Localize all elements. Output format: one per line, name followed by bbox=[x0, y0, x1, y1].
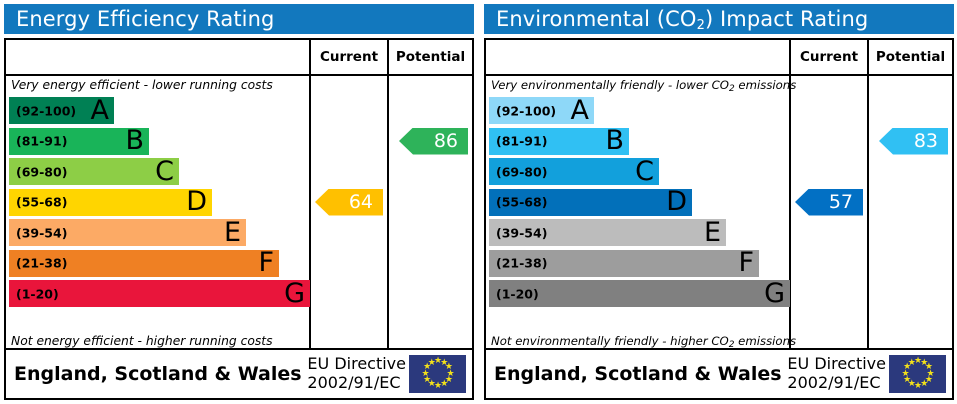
chart-title-environmental-impact: Environmental (CO2) Impact Rating bbox=[484, 4, 954, 34]
band-letter-G: G bbox=[284, 279, 305, 306]
band-range-F: (21-38) bbox=[496, 256, 547, 271]
band-range-B: (81-91) bbox=[496, 134, 547, 149]
band-letter-E: E bbox=[704, 218, 721, 245]
footer-region-label: England, Scotland & Wales bbox=[494, 350, 782, 398]
column-header-current: Current bbox=[311, 40, 389, 74]
header-blank-cell bbox=[6, 40, 311, 74]
chart-footer: England, Scotland & WalesEU Directive200… bbox=[486, 348, 952, 398]
current-rating-value: 64 bbox=[349, 191, 373, 213]
band-C: (69-80)C bbox=[9, 158, 179, 185]
band-range-F: (21-38) bbox=[16, 256, 67, 271]
band-range-C: (69-80) bbox=[16, 164, 67, 179]
band-letter-B: B bbox=[605, 127, 624, 154]
band-letter-F: F bbox=[258, 249, 274, 276]
band-B: (81-91)B bbox=[489, 128, 629, 155]
band-G: (1-20)G bbox=[9, 280, 310, 307]
band-range-D: (55-68) bbox=[496, 195, 547, 210]
band-range-E: (39-54) bbox=[496, 225, 547, 240]
band-E: (39-54)E bbox=[489, 219, 726, 246]
chart-frame-environmental-impact: CurrentPotentialVery environmentally fri… bbox=[484, 38, 954, 400]
band-E: (39-54)E bbox=[9, 219, 246, 246]
band-letter-B: B bbox=[125, 127, 144, 154]
table-header-row: CurrentPotential bbox=[6, 40, 472, 76]
chart-frame-energy-efficiency: CurrentPotentialVery energy efficient - … bbox=[4, 38, 474, 400]
potential-rating-value: 83 bbox=[914, 130, 938, 152]
epc-charts-page: Energy Efficiency RatingCurrentPotential… bbox=[0, 0, 957, 404]
directive-line-1: EU Directive bbox=[787, 355, 886, 374]
footer-region-label: England, Scotland & Wales bbox=[14, 350, 302, 398]
note-bottom: Not environmentally friendly - higher CO… bbox=[491, 334, 796, 348]
directive-line-1: EU Directive bbox=[307, 355, 406, 374]
band-letter-C: C bbox=[635, 157, 654, 184]
epc-chart-energy-efficiency: Energy Efficiency RatingCurrentPotential… bbox=[0, 0, 478, 404]
band-letter-C: C bbox=[155, 157, 174, 184]
potential-rating-arrow: 83 bbox=[879, 128, 948, 155]
bands-column: Very environmentally friendly - lower CO… bbox=[486, 76, 791, 350]
band-range-B: (81-91) bbox=[16, 134, 67, 149]
current-rating-arrow: 57 bbox=[795, 189, 863, 216]
band-G: (1-20)G bbox=[489, 280, 790, 307]
band-B: (81-91)B bbox=[9, 128, 149, 155]
band-letter-G: G bbox=[764, 279, 785, 306]
chart-footer: England, Scotland & WalesEU Directive200… bbox=[6, 348, 472, 398]
eu-flag-icon: ★★★★★★★★★★★★ bbox=[889, 355, 946, 393]
footer-directive-label: EU Directive2002/91/EC bbox=[307, 350, 406, 398]
band-range-G: (1-20) bbox=[16, 286, 59, 301]
current-rating-column: 57 bbox=[791, 76, 869, 350]
potential-rating-column: 83 bbox=[869, 76, 952, 350]
band-F: (21-38)F bbox=[9, 250, 279, 277]
chart-body: Very energy efficient - lower running co… bbox=[6, 76, 472, 350]
directive-line-2: 2002/91/EC bbox=[307, 374, 400, 393]
co2-subscript: 2 bbox=[729, 84, 735, 94]
band-letter-A: A bbox=[91, 96, 109, 123]
band-F: (21-38)F bbox=[489, 250, 759, 277]
epc-chart-environmental-impact: Environmental (CO2) Impact RatingCurrent… bbox=[480, 0, 957, 404]
potential-rating-arrow: 86 bbox=[399, 128, 468, 155]
band-letter-D: D bbox=[186, 188, 207, 215]
band-C: (69-80)C bbox=[489, 158, 659, 185]
note-bottom: Not energy efficient - higher running co… bbox=[11, 334, 273, 348]
band-A: (92-100)A bbox=[489, 97, 594, 124]
band-D: (55-68)D bbox=[489, 189, 692, 216]
eu-flag-icon: ★★★★★★★★★★★★ bbox=[409, 355, 466, 393]
header-blank-cell bbox=[486, 40, 791, 74]
chart-title-energy-efficiency: Energy Efficiency Rating bbox=[4, 4, 474, 34]
band-range-E: (39-54) bbox=[16, 225, 67, 240]
band-range-A: (92-100) bbox=[16, 103, 76, 118]
band-range-G: (1-20) bbox=[496, 286, 539, 301]
column-header-potential: Potential bbox=[389, 40, 472, 74]
band-letter-E: E bbox=[224, 218, 241, 245]
footer-directive-label: EU Directive2002/91/EC bbox=[787, 350, 886, 398]
potential-rating-value: 86 bbox=[434, 130, 458, 152]
band-range-A: (92-100) bbox=[496, 103, 556, 118]
current-rating-value: 57 bbox=[829, 191, 853, 213]
band-letter-A: A bbox=[571, 96, 589, 123]
directive-line-2: 2002/91/EC bbox=[787, 374, 880, 393]
band-range-D: (55-68) bbox=[16, 195, 67, 210]
band-letter-F: F bbox=[738, 249, 754, 276]
eu-flag-star-icon: ★ bbox=[428, 360, 435, 367]
current-rating-arrow: 64 bbox=[315, 189, 383, 216]
band-D: (55-68)D bbox=[9, 189, 212, 216]
potential-rating-column: 86 bbox=[389, 76, 472, 350]
note-top: Very environmentally friendly - lower CO… bbox=[491, 78, 796, 92]
chart-body: Very environmentally friendly - lower CO… bbox=[486, 76, 952, 350]
eu-flag-star-icon: ★ bbox=[908, 360, 915, 367]
band-range-C: (69-80) bbox=[496, 164, 547, 179]
column-header-potential: Potential bbox=[869, 40, 952, 74]
co2-subscript: 2 bbox=[697, 18, 705, 33]
note-top: Very energy efficient - lower running co… bbox=[11, 78, 273, 92]
bands-column: Very energy efficient - lower running co… bbox=[6, 76, 311, 350]
band-A: (92-100)A bbox=[9, 97, 114, 124]
current-rating-column: 64 bbox=[311, 76, 389, 350]
table-header-row: CurrentPotential bbox=[486, 40, 952, 76]
band-letter-D: D bbox=[666, 188, 687, 215]
column-header-current: Current bbox=[791, 40, 869, 74]
